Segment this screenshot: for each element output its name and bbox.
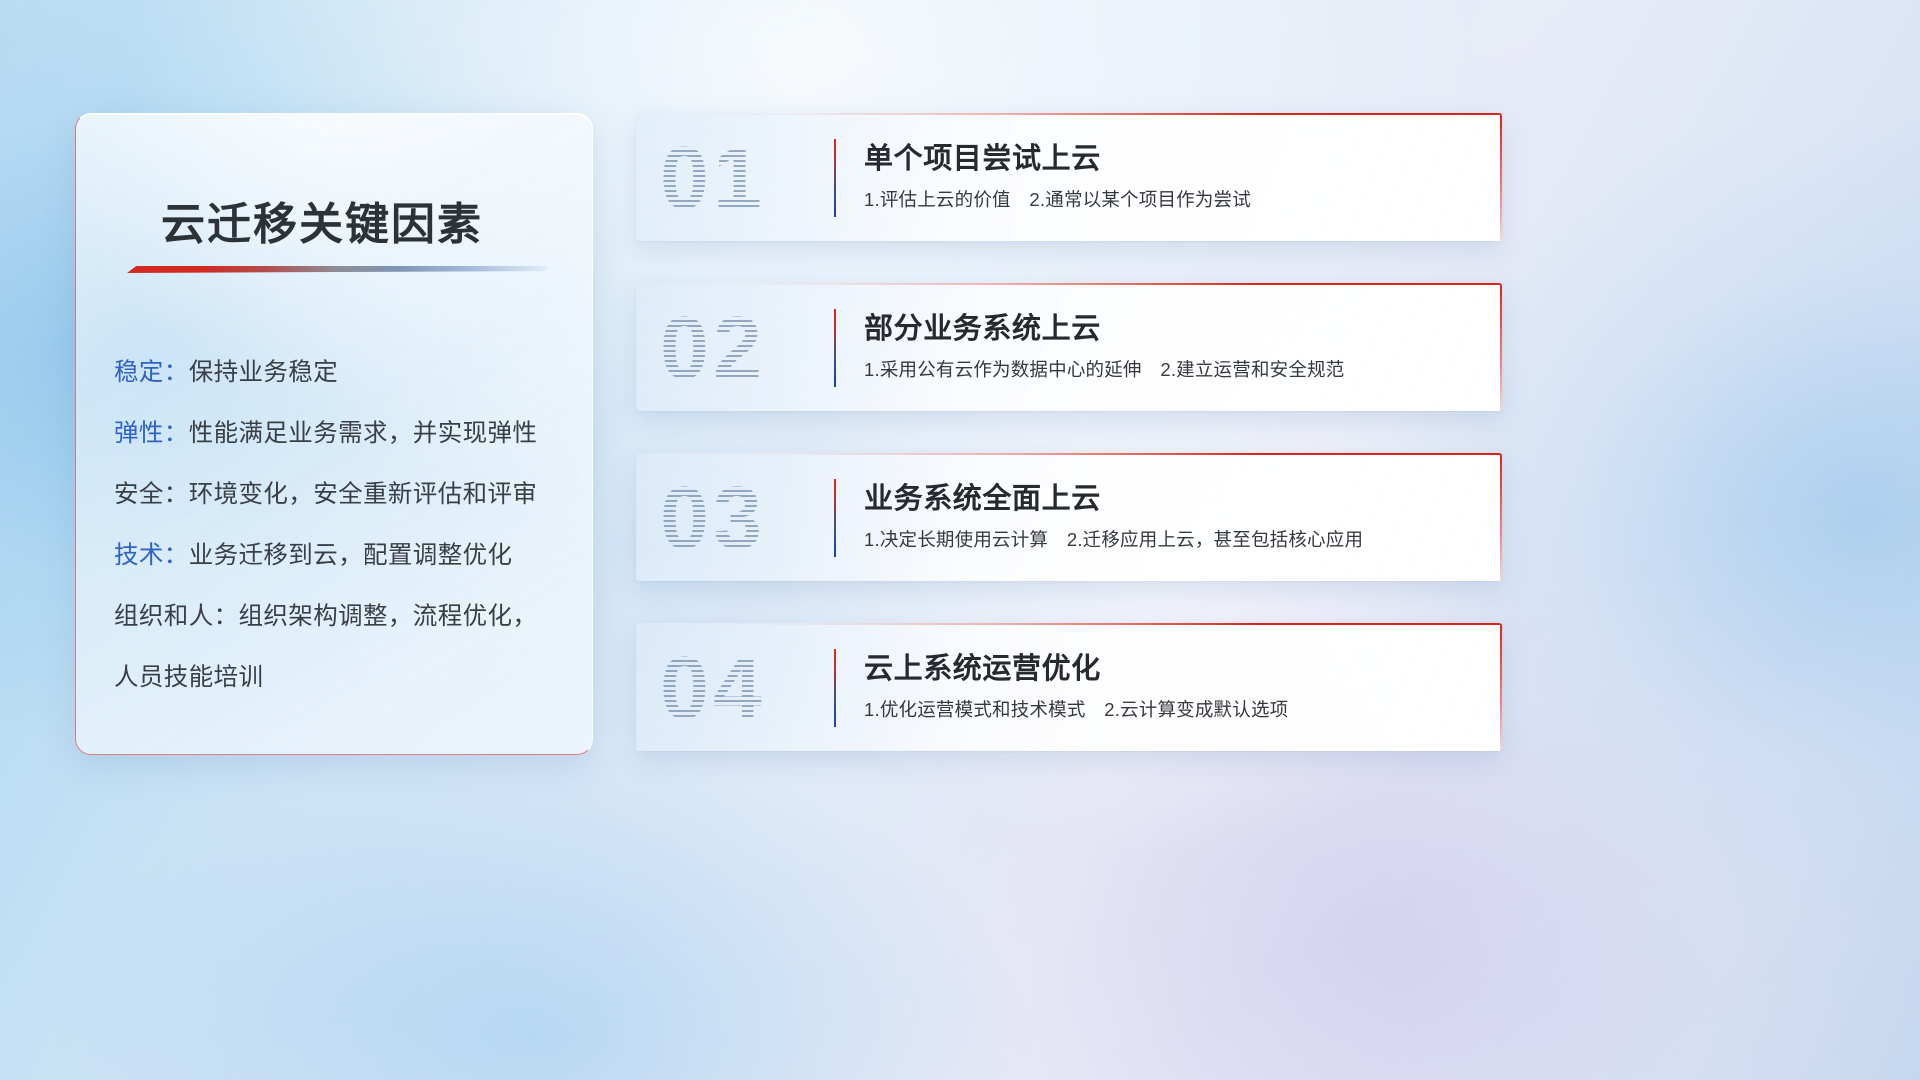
factor-label: 安全： xyxy=(114,481,189,508)
factor-label: 技术： xyxy=(114,542,189,569)
card-top-accent-rule xyxy=(636,623,1502,625)
step-title: 业务系统全面上云 xyxy=(864,475,1101,517)
step-number: 04 xyxy=(660,640,860,736)
step-subtitle: 1.优化运营模式和技术模式 2.云计算变成默认选项 xyxy=(864,696,1288,722)
step-number: 03 xyxy=(660,470,860,566)
step-divider-line xyxy=(834,479,836,557)
factor-row: 组织和人：组织架构调整，流程优化， xyxy=(114,586,568,647)
card-right-accent-rule xyxy=(1500,623,1502,751)
step-card[interactable]: 04云上系统运营优化1.优化运营模式和技术模式 2.云计算变成默认选项 xyxy=(636,623,1502,751)
card-right-accent-rule xyxy=(1500,113,1502,241)
factor-label: 弹性： xyxy=(114,420,189,447)
step-card[interactable]: 02部分业务系统上云1.采用公有云作为数据中心的延伸 2.建立运营和安全规范 xyxy=(636,283,1502,411)
step-number: 02 xyxy=(660,300,860,396)
factor-body: 性能满足业务需求，并实现弹性 xyxy=(189,420,538,447)
card-right-accent-rule xyxy=(1500,283,1502,411)
step-divider-line xyxy=(834,139,836,217)
factor-body: 环境变化，安全重新评估和评审 xyxy=(189,481,538,508)
factor-row: 稳定：保持业务稳定 xyxy=(114,342,568,403)
factor-row: 安全：环境变化，安全重新评估和评审 xyxy=(114,464,568,525)
factor-row: 技术：业务迁移到云，配置调整优化 xyxy=(114,525,568,586)
factor-continuation: 人员技能培训 xyxy=(114,647,568,708)
step-title: 部分业务系统上云 xyxy=(864,305,1101,347)
factor-body: 组织架构调整，流程优化， xyxy=(239,603,538,630)
factor-row: 弹性：性能满足业务需求，并实现弹性 xyxy=(114,403,568,464)
card-top-accent-rule xyxy=(636,283,1502,285)
step-number: 01 xyxy=(660,130,860,226)
card-top-accent-rule xyxy=(636,453,1502,455)
step-title: 云上系统运营优化 xyxy=(864,645,1101,687)
factor-body: 保持业务稳定 xyxy=(189,359,338,386)
factor-list: 稳定：保持业务稳定弹性：性能满足业务需求，并实现弹性安全：环境变化，安全重新评估… xyxy=(114,342,568,708)
step-subtitle: 1.决定长期使用云计算 2.迁移应用上云，甚至包括核心应用 xyxy=(864,526,1363,552)
step-subtitle: 1.评估上云的价值 2.通常以某个项目作为尝试 xyxy=(864,186,1251,212)
factor-label: 稳定： xyxy=(114,359,189,386)
step-divider-line xyxy=(834,649,836,727)
slide-stage: 云迁移关键因素 稳定：保持业务稳定弹性：性能满足业务需求，并实现弹性安全：环境变… xyxy=(0,0,1920,1080)
card-top-accent-rule xyxy=(636,113,1502,115)
step-divider-line xyxy=(834,309,836,387)
step-title: 单个项目尝试上云 xyxy=(864,135,1101,177)
page-title: 云迁移关键因素 xyxy=(161,188,483,252)
factor-label: 组织和人： xyxy=(114,603,239,630)
migration-steps-list: 01单个项目尝试上云1.评估上云的价值 2.通常以某个项目作为尝试02部分业务系… xyxy=(636,113,1502,793)
step-subtitle: 1.采用公有云作为数据中心的延伸 2.建立运营和安全规范 xyxy=(864,356,1344,382)
step-card[interactable]: 01单个项目尝试上云1.评估上云的价值 2.通常以某个项目作为尝试 xyxy=(636,113,1502,241)
key-factors-panel: 云迁移关键因素 稳定：保持业务稳定弹性：性能满足业务需求，并实现弹性安全：环境变… xyxy=(75,113,593,755)
factor-body: 业务迁移到云，配置调整优化 xyxy=(189,542,513,569)
card-right-accent-rule xyxy=(1500,453,1502,581)
step-card[interactable]: 03业务系统全面上云1.决定长期使用云计算 2.迁移应用上云，甚至包括核心应用 xyxy=(636,453,1502,581)
title-underline-gradient xyxy=(127,266,547,273)
